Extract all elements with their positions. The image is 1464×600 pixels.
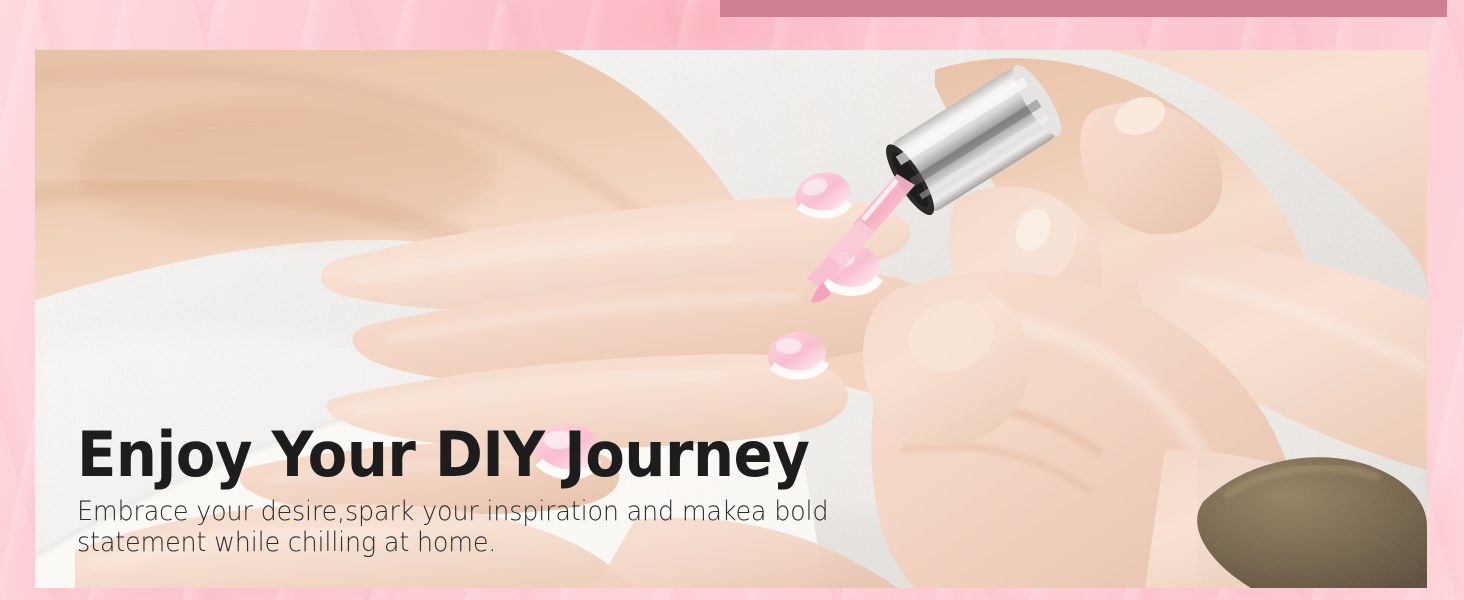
banner-subtext: Embrace your desire,spark your inspirati… xyxy=(77,496,903,558)
page-title: Enjoy Your DIY Journey xyxy=(77,424,914,486)
banner-copy: Enjoy Your DIY Journey Embrace your desi… xyxy=(77,424,977,558)
diy-nail-banner: Enjoy Your DIY Journey Embrace your desi… xyxy=(0,0,1464,600)
rose-accent-bar xyxy=(720,0,1447,17)
